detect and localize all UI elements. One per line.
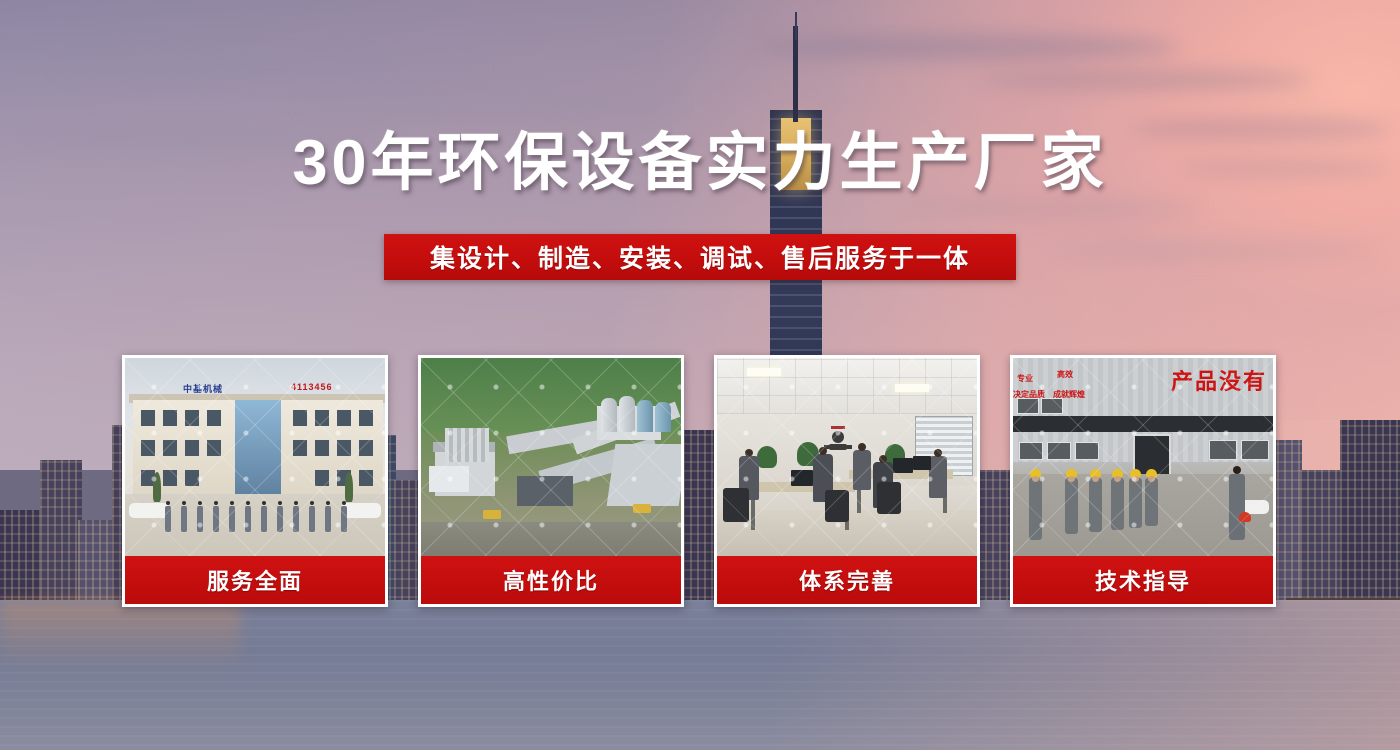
cloud bbox=[760, 34, 1180, 60]
cloud bbox=[300, 96, 680, 114]
card-caption-bar: 技术指导 bbox=[1013, 556, 1273, 604]
photo-watermark-overlay bbox=[717, 358, 977, 556]
photo-watermark-overlay bbox=[421, 358, 681, 556]
card-photo-workers-training: 产品没有 专业 决定品质 高效 成就辉煌 bbox=[1013, 358, 1273, 556]
banner-stage: 30年环保设备实力生产厂家 集设计、制造、安装、调试、售后服务于一体 中基机械 … bbox=[0, 0, 1400, 750]
card-caption-text: 体系完善 bbox=[799, 564, 895, 596]
feature-card-row: 中基机械 4113456 bbox=[122, 355, 1280, 607]
card-caption-bar: 服务全面 bbox=[125, 556, 385, 604]
tower-spire bbox=[793, 26, 798, 122]
card-caption-text: 高性价比 bbox=[503, 564, 599, 596]
tower-spire bbox=[795, 12, 797, 40]
photo-watermark-overlay bbox=[125, 358, 385, 556]
card-caption-bar: 高性价比 bbox=[421, 556, 681, 604]
feature-card[interactable]: 中基机械 4113456 bbox=[122, 355, 388, 607]
card-caption-bar: 体系完善 bbox=[717, 556, 977, 604]
card-caption-text: 服务全面 bbox=[207, 564, 303, 596]
card-caption-text: 技术指导 bbox=[1095, 564, 1191, 596]
subtitle-text: 集设计、制造、安装、调试、售后服务于一体 bbox=[430, 239, 970, 275]
cloud bbox=[980, 70, 1310, 90]
cloud bbox=[900, 200, 1200, 218]
feature-card[interactable]: 产品没有 专业 决定品质 高效 成就辉煌 bbox=[1010, 355, 1276, 607]
card-photo-office-interior bbox=[717, 358, 977, 556]
card-photo-office-building: 中基机械 4113456 bbox=[125, 358, 385, 556]
subtitle-ribbon: 集设计、制造、安装、调试、售后服务于一体 bbox=[384, 234, 1016, 280]
card-photo-factory-aerial bbox=[421, 358, 681, 556]
feature-card[interactable]: 高性价比 bbox=[418, 355, 684, 607]
feature-card[interactable]: 体系完善 bbox=[714, 355, 980, 607]
photo-watermark-overlay bbox=[1013, 358, 1273, 556]
cloud bbox=[60, 58, 480, 80]
page-title: 30年环保设备实力生产厂家 bbox=[0, 132, 1400, 195]
water-reflection bbox=[0, 600, 240, 670]
